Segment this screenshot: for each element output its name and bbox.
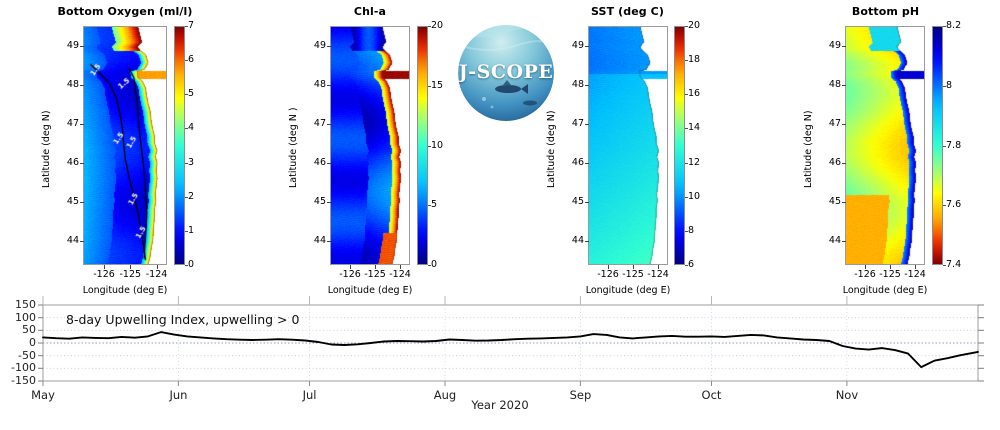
panel-title-bottom-ph: Bottom pH: [808, 5, 963, 18]
upwelling-index-chart[interactable]: 150100500-50-100-150MayJunJulAugSepOctNo…: [0, 290, 1000, 426]
figure-root: Bottom Oxygen (ml/l)494847464544-126-125…: [0, 0, 1000, 426]
chart-y-tick-label: -100: [0, 361, 36, 374]
map-plot-bottom-ph[interactable]: [845, 26, 925, 265]
map-raster-bottom-ph: [846, 27, 924, 264]
logo-text: J-SCOPE: [458, 61, 554, 83]
lon-tick-label: -124: [897, 269, 933, 280]
colorbar-tick-label: 7.4: [946, 259, 961, 270]
colorbar-tick-mark: [943, 265, 946, 266]
upwelling-index-line: [43, 332, 978, 367]
lat-tick-label: 44: [819, 235, 841, 246]
chart-y-tick-label: 50: [0, 323, 36, 336]
colorbar-tick-mark: [943, 146, 946, 147]
colorbar-tick-label: 8: [946, 80, 952, 91]
lat-tick-mark: [842, 202, 846, 203]
colorbar-tick-mark: [943, 26, 946, 27]
colorbar-tick-label: 7.6: [946, 199, 961, 210]
chart-y-tick-label: -50: [0, 349, 36, 362]
colorbar-tick-label: 7.8: [946, 140, 961, 151]
lon-tick-mark: [915, 265, 916, 269]
colorbar-tick-label: 8.2: [946, 20, 961, 31]
lat-tick-mark: [842, 163, 846, 164]
chart-y-tick-label: 0: [0, 336, 36, 349]
lat-tick-label: 49: [819, 40, 841, 51]
lat-tick-label: 47: [819, 118, 841, 129]
lat-tick-label: 48: [819, 79, 841, 90]
chart-x-axis-title: Year 2020: [0, 398, 1000, 412]
j-scope-logo[interactable]: J-SCOPE: [458, 25, 554, 121]
chart-annotation: 8-day Upwelling Index, upwelling > 0: [66, 312, 299, 327]
lat-tick-mark: [842, 124, 846, 125]
lat-tick-mark: [842, 85, 846, 86]
lat-tick-mark: [842, 241, 846, 242]
colorbar-tick-mark: [943, 86, 946, 87]
chart-y-tick-label: 150: [0, 298, 36, 311]
lat-tick-label: 45: [819, 196, 841, 207]
lat-tick-label: 46: [819, 157, 841, 168]
colorbar-bottom-ph: [932, 26, 943, 265]
y-axis-label-bottom-ph: Latitude (deg N): [803, 110, 814, 188]
chart-y-tick-label: -150: [0, 374, 36, 387]
lat-tick-mark: [842, 46, 846, 47]
colorbar-tick-mark: [943, 205, 946, 206]
lon-tick-mark: [890, 265, 891, 269]
chart-y-tick-label: 100: [0, 311, 36, 324]
lon-tick-mark: [865, 265, 866, 269]
